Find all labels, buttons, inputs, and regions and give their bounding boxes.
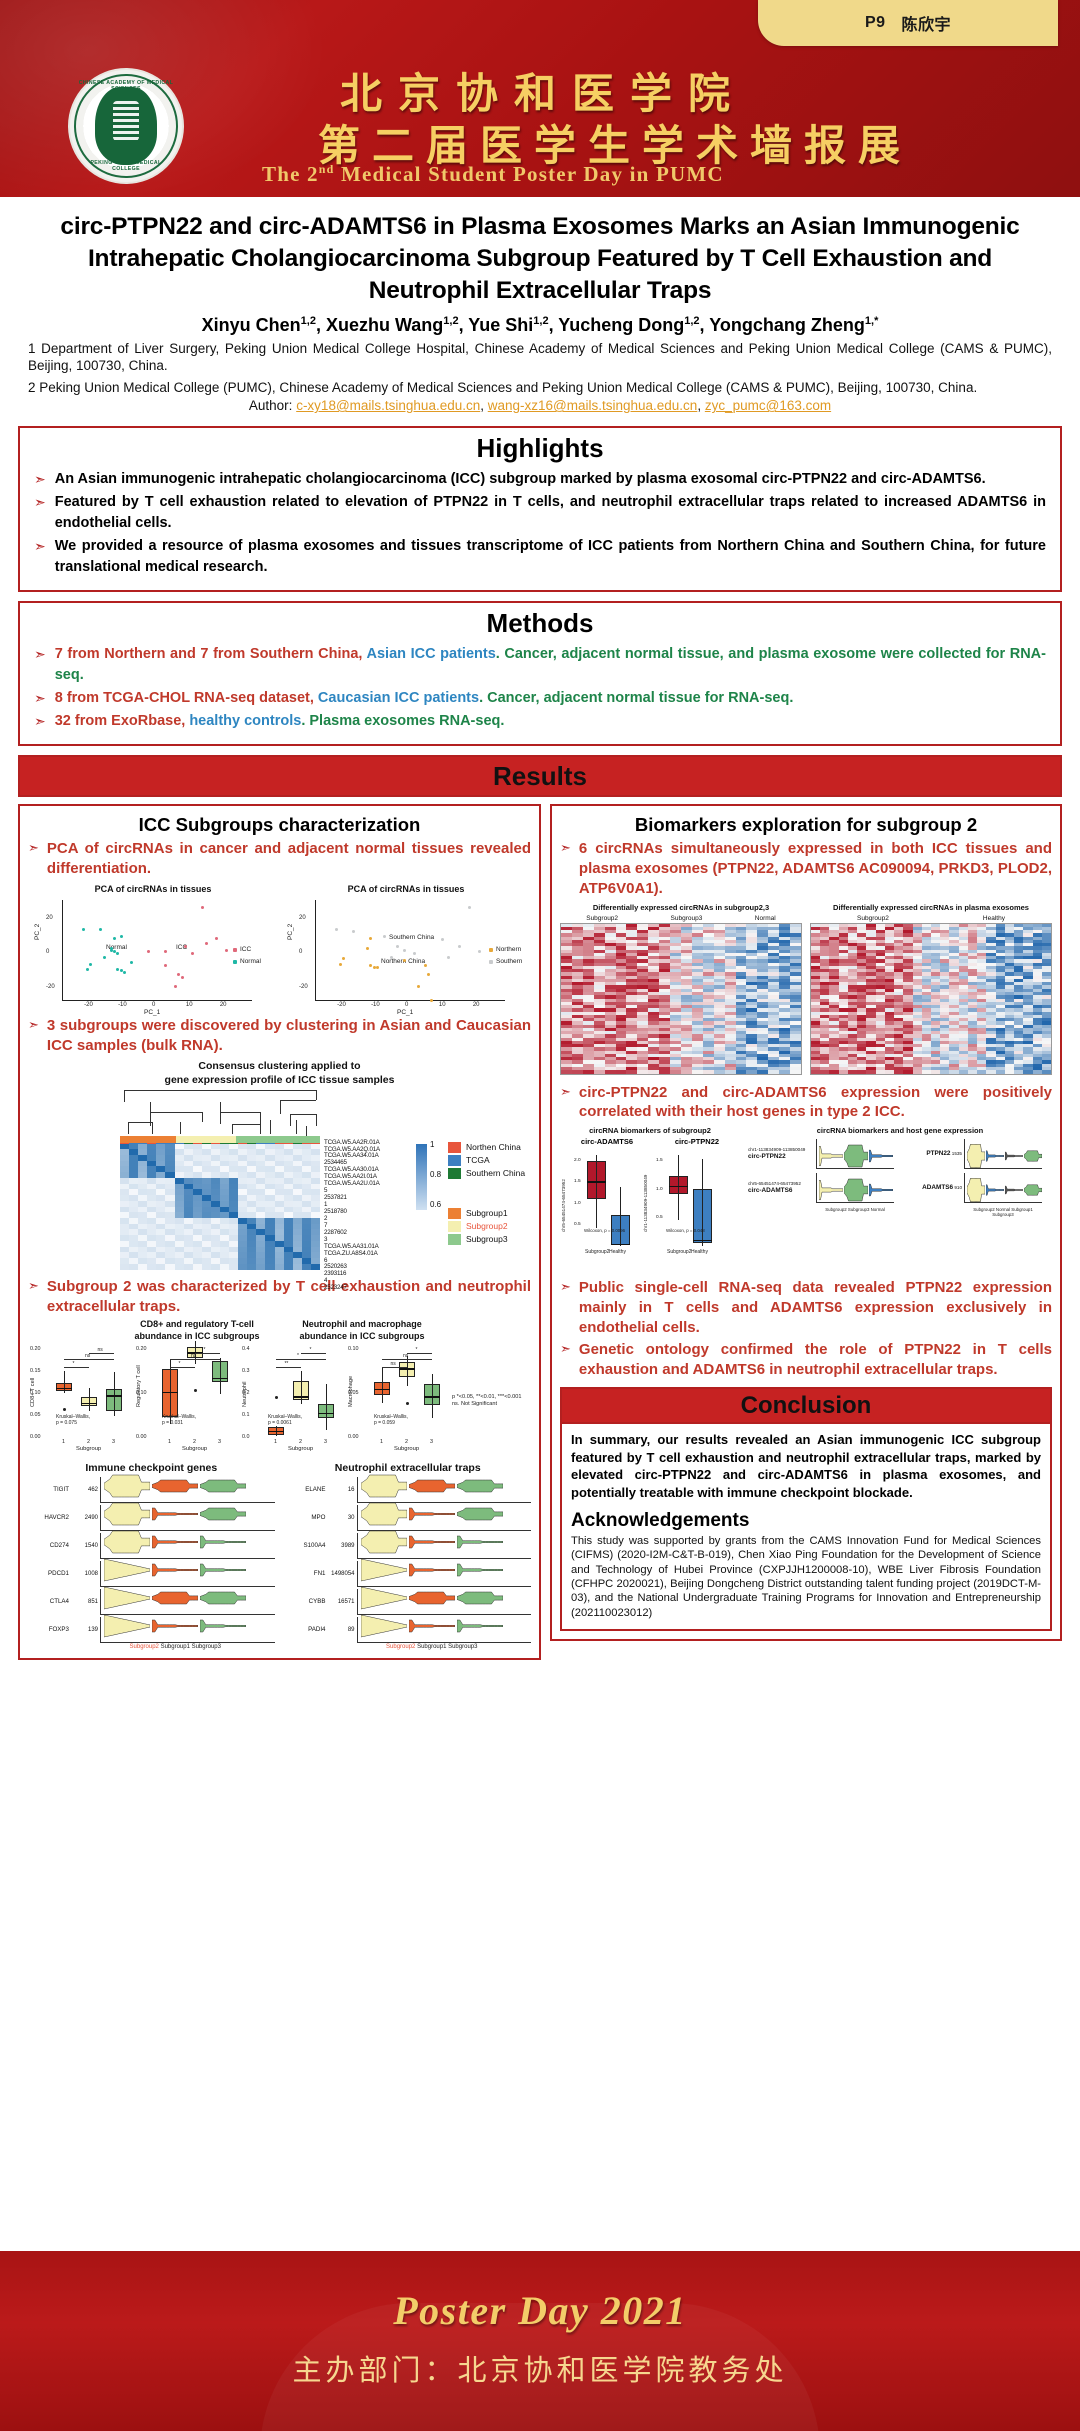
x-tick: -20 xyxy=(337,1002,346,1008)
consensus-cell xyxy=(129,1264,138,1270)
heatmap-cell xyxy=(714,1070,726,1074)
bullet-arrow-icon: ➣ xyxy=(34,536,46,578)
violin-max-value: 1498054 xyxy=(329,1571,357,1577)
significance-bar xyxy=(301,1353,326,1354)
pvalue-label: Kruskal–Wallis, p = 0.0061 xyxy=(268,1415,302,1427)
violin-max-value: 1540 xyxy=(72,1543,100,1549)
methods-title: Methods xyxy=(20,603,1060,642)
x-axis-label: Subgroup xyxy=(288,1446,313,1452)
x-tick: 0 xyxy=(405,1002,408,1008)
violin-shape xyxy=(967,1143,985,1169)
violin-row: CYBB16571 xyxy=(285,1588,532,1616)
sig-legend-line-1: p *<0.05, **<0.01, ***<0.001 xyxy=(452,1394,531,1401)
dendrogram-branch xyxy=(150,1102,151,1112)
dendrogram-branch xyxy=(290,1114,316,1115)
violin-gene-label: PDCD1 xyxy=(28,1570,72,1577)
right-bullet-3: ➣ Public single-cell RNA-seq data reveal… xyxy=(560,1278,1052,1338)
footer-title: Poster Day 2021 xyxy=(0,2287,1080,2334)
x-tick: 20 xyxy=(220,1002,227,1008)
median-line xyxy=(399,1368,415,1369)
violin-max-value: 16 xyxy=(329,1487,357,1493)
dendrogram-branch xyxy=(290,1114,291,1126)
x-tick: 2 xyxy=(299,1439,302,1445)
heatmap-cell xyxy=(779,1070,791,1074)
acknowledgements-title: Acknowledgements xyxy=(571,1510,1041,1532)
left-column-heading: ICC Subgroups characterization xyxy=(28,814,531,836)
violin-xticks-left: Subgroup2 Subgroup1 Subgroup3 xyxy=(76,1644,275,1650)
violin-gene-label: FOXP3 xyxy=(28,1626,72,1633)
y-axis xyxy=(315,900,316,1000)
method-item: ➣ 8 from TCGA-CHOL RNA-seq dataset, Cauc… xyxy=(34,688,1046,709)
violin-shape xyxy=(986,1177,1004,1203)
scatter-point xyxy=(342,957,345,960)
violin-net: Neutrophil extracellular traps ELANE16MP… xyxy=(285,1462,532,1650)
scatter-point xyxy=(383,935,386,938)
highlight-text: Featured by T cell exhaustion related to… xyxy=(55,492,1046,534)
bullet-arrow-icon: ➣ xyxy=(34,688,46,709)
pca-2-annotation-southern: Southern China xyxy=(389,934,434,941)
conclusion-text: In summary, our results revealed an Asia… xyxy=(571,1431,1041,1501)
violin-shape xyxy=(104,1502,150,1526)
violin-shape xyxy=(457,1530,503,1554)
outlier-point xyxy=(63,1408,66,1411)
violin-shape xyxy=(409,1474,455,1498)
scatter-point xyxy=(478,950,481,953)
dendrogram-branch xyxy=(220,1112,260,1113)
method-assay: . Cancer, adjacent normal tissue for RNA… xyxy=(479,690,793,706)
seal-bottom-text: PEKING UNION MEDICAL COLLEGE xyxy=(76,160,176,172)
sig-legend-line-2: ns. Not Significant xyxy=(452,1401,531,1408)
x-tick: Subgroup2 xyxy=(667,1249,691,1255)
host-gene-violin-plot xyxy=(964,1139,1042,1169)
sample-label-list: TCGA.W5.AA2R.01ATCGA.W5.AA2Q.01ATCGA.W5.… xyxy=(324,1140,380,1293)
right-column-heading: Biomarkers exploration for subgroup 2 xyxy=(560,814,1052,836)
conclusion-title: Conclusion xyxy=(560,1387,1052,1424)
pca-1-plot: PC_2 PC_1 Normal ICC ICC Normal -20-1001… xyxy=(28,896,278,1014)
left-bullet-2: ➣ 3 subgroups were discovered by cluster… xyxy=(28,1016,531,1056)
median-line xyxy=(374,1389,390,1390)
heatmap-cell xyxy=(637,1070,649,1074)
violin-shape xyxy=(457,1502,503,1526)
method-item: ➣ 7 from Northern and 7 from Southern Ch… xyxy=(34,644,1046,686)
heatmap-right-caption: Differentially expressed circRNAs in pla… xyxy=(810,903,1052,912)
violin-shape xyxy=(200,1474,246,1498)
heatmap-tissue: Differentially expressed circRNAs in sub… xyxy=(560,903,802,1074)
colorbar-tick-1: 1 xyxy=(430,1140,434,1149)
consensus-cell xyxy=(147,1264,156,1270)
violin-row: FOXP3139 xyxy=(28,1616,275,1644)
circ-caption: circRNA biomarkers of subgroup2 xyxy=(560,1126,740,1135)
y-tick: 20 xyxy=(46,915,53,921)
right-bullet-4: ➣ Genetic ontology confirmed the role of… xyxy=(560,1340,1052,1380)
x-tick: 1 xyxy=(380,1439,383,1445)
dendrogram-branch xyxy=(232,1124,233,1134)
banner-en-prefix: The 2 xyxy=(262,162,319,186)
outlier-point xyxy=(194,1389,197,1392)
violin-row: S100A43989 xyxy=(285,1532,532,1560)
consensus-cell xyxy=(184,1264,193,1270)
dendrogram-branch xyxy=(150,1112,202,1113)
violin-title-right: Neutrophil extracellular traps xyxy=(285,1462,532,1474)
violin-shape xyxy=(457,1474,503,1498)
results-right-column: Biomarkers exploration for subgroup 2 ➣ … xyxy=(550,804,1062,1641)
x-axis-label: Subgroup xyxy=(182,1446,207,1452)
pvalue-label: Kruskal–Wallis, p = 0.075 xyxy=(56,1415,90,1427)
significance-bar xyxy=(382,1367,407,1368)
circ-coordinate: chr1-113834909-113850049 xyxy=(748,1147,805,1152)
whisker xyxy=(114,1372,115,1416)
scatter-point xyxy=(174,985,177,988)
colorbar-tick-3: 0.6 xyxy=(430,1200,441,1209)
x-tick: -20 xyxy=(84,1002,93,1008)
consensus-cell xyxy=(138,1264,147,1270)
method-cohort: 32 from ExoRbase, xyxy=(55,713,190,729)
seal-emblem xyxy=(95,87,157,165)
y-tick: 2.0 xyxy=(574,1158,581,1163)
heatmap-cell xyxy=(616,1070,628,1074)
consensus-caption-2: gene expression profile of ICC tissue sa… xyxy=(28,1074,531,1087)
scatter-point xyxy=(376,966,379,969)
highlight-text: An Asian immunogenic intrahepatic cholan… xyxy=(55,469,986,490)
dendrogram-branch xyxy=(124,1090,125,1102)
method-population: Caucasian ICC patients xyxy=(318,690,479,706)
y-tick: 0.5 xyxy=(574,1222,581,1227)
x-tick: 3 xyxy=(324,1439,327,1445)
dendrogram-branch xyxy=(296,1120,297,1134)
y-tick: 0.15 xyxy=(30,1368,41,1374)
banner-en-rest: Medical Student Poster Day in PUMC xyxy=(335,162,724,186)
x-tick: 1 xyxy=(62,1439,65,1445)
right-bullet-1: ➣ 6 circRNAs simultaneously expressed in… xyxy=(560,839,1052,899)
violin-shape xyxy=(152,1614,198,1638)
violin-shape xyxy=(200,1586,246,1610)
methods-body: ➣ 7 from Northern and 7 from Southern Ch… xyxy=(20,644,1060,744)
significance-label: * xyxy=(309,1347,311,1353)
scatter-point xyxy=(147,950,150,953)
consensus-cell xyxy=(193,1264,202,1270)
y-axis-label: CD8+ T cell xyxy=(30,1378,36,1407)
sample-label: 2393116 xyxy=(324,1271,380,1278)
sample-label: 2537821 xyxy=(324,1195,380,1202)
heatmap-cell xyxy=(736,1070,748,1074)
y-axis-label: Macrophage xyxy=(348,1376,354,1407)
pca-1-xlabel: PC_1 xyxy=(144,1009,160,1016)
y-tick: 0.00 xyxy=(136,1434,147,1440)
violin-row: CD2741540 xyxy=(28,1532,275,1560)
violin-max-value: 89 xyxy=(329,1627,357,1633)
host-gene-xticks: Subgroup2 Subgroup3 Normal Subgroup2 Nor… xyxy=(748,1207,1052,1217)
heatmap-cell xyxy=(1042,1070,1052,1074)
pca-1-legend-icc: ICC xyxy=(233,946,251,953)
consensus-cell xyxy=(311,1264,320,1270)
heatmap-cell xyxy=(594,1070,606,1074)
sample-label: 2518780 xyxy=(324,1209,380,1216)
heatmap-cell xyxy=(703,1070,715,1074)
pumc-seal-logo: CHINESE ACADEMY OF MEDICAL SCIENCES PEKI… xyxy=(68,68,184,184)
results-columns: ICC Subgroups characterization ➣ PCA of … xyxy=(18,804,1062,1660)
significance-label: * xyxy=(178,1361,180,1367)
scatter-point xyxy=(205,942,208,945)
sample-label: 2287602 xyxy=(324,1230,380,1237)
highlight-item: ➣ We provided a resource of plasma exoso… xyxy=(34,536,1046,578)
whisker xyxy=(301,1371,302,1404)
bullet-arrow-icon: ➣ xyxy=(34,644,46,686)
immune-abundance-boxplots: 0.000.050.100.150.20CD8+ T cellSubgroup1… xyxy=(28,1345,531,1457)
y-tick: 0.0 xyxy=(242,1434,250,1440)
bullet-arrow-icon: ➣ xyxy=(28,839,39,879)
violin-shape xyxy=(967,1177,985,1203)
sample-label: 2 xyxy=(324,1216,380,1223)
heatmap-cell xyxy=(626,1070,638,1074)
violin-plot xyxy=(357,1561,532,1587)
dendrogram-branch xyxy=(128,1122,129,1134)
consensus-clustering-figure: TCGA.W5.AA2R.01ATCGA.W5.AA2Q.01ATCGA.W5.… xyxy=(28,1090,531,1276)
poster-number-badge: P9 陈欣宇 xyxy=(758,0,1058,46)
pvalue-label: Kruskal–Wallis, p = 0.059 xyxy=(374,1415,408,1427)
violin-plot xyxy=(357,1617,532,1643)
significance-legend: p *<0.05, **<0.01, ***<0.001 ns. Not Sig… xyxy=(452,1394,531,1409)
bullet-arrow-icon: ➣ xyxy=(560,839,571,899)
pca-figure-pair: PCA of circRNAs in tissues PC_2 PC_1 Nor… xyxy=(28,880,531,1014)
scatter-point xyxy=(116,952,119,955)
circ-boxplot-panel: circRNA biomarkers of subgroup2 circ-ADA… xyxy=(560,1126,740,1267)
y-tick: 20 xyxy=(299,915,306,921)
colorbar-tick-2: 0.8 xyxy=(430,1170,441,1179)
host-gene-row: chr1-113834909-113850049circ-PTPN22PTPN2… xyxy=(748,1139,1052,1169)
conclusion-body: In summary, our results revealed an Asia… xyxy=(560,1424,1052,1631)
pca-1-ylabel: PC_2 xyxy=(34,924,41,940)
violin-row: ELANE16 xyxy=(285,1476,532,1504)
scatter-point xyxy=(458,945,461,948)
whisker xyxy=(620,1187,621,1246)
scatter-point xyxy=(86,968,89,971)
y-tick: 1.0 xyxy=(574,1201,581,1206)
significance-bar xyxy=(276,1359,326,1360)
scatter-point xyxy=(441,938,444,941)
y-tick: -20 xyxy=(299,984,308,990)
right-bullet-1-text: 6 circRNAs simultaneously expressed in b… xyxy=(579,839,1052,899)
poster-footer: Poster Day 2021 主办部门：北京协和医学院教务处 xyxy=(0,2251,1080,2431)
y-axis xyxy=(62,900,63,1000)
significance-bar xyxy=(276,1367,301,1368)
sample-label: 2523247 xyxy=(324,1285,380,1292)
violin-shape xyxy=(104,1558,150,1582)
dendrogram-branch xyxy=(128,1122,152,1123)
violin-row: PDCD11008 xyxy=(28,1560,275,1588)
violin-shape xyxy=(200,1530,246,1554)
legend-row-subgroup3: Subgroup3 xyxy=(448,1234,508,1245)
y-tick: 0.05 xyxy=(30,1412,41,1418)
scatter-point xyxy=(82,928,85,931)
violin-shape xyxy=(200,1502,246,1526)
dendrogram-branch xyxy=(260,1112,261,1124)
right-bullet-2-text: circ-PTPN22 and circ-ADAMTS6 expression … xyxy=(579,1083,1052,1123)
heatmap-cell xyxy=(648,1070,660,1074)
dendrogram-branch xyxy=(316,1114,317,1126)
dendrogram-branch xyxy=(180,1122,181,1134)
violin-gene-label: PADI4 xyxy=(285,1626,329,1633)
violin-shape xyxy=(104,1474,150,1498)
author-list: Xinyu Chen1,2, Xuezhu Wang1,2, Yue Shi1,… xyxy=(28,315,1052,336)
scatter-point xyxy=(335,928,338,931)
pca-1-legend-normal: Normal xyxy=(233,958,261,965)
violin-shape xyxy=(457,1586,503,1610)
median-line xyxy=(268,1431,284,1432)
violin-shape xyxy=(1024,1177,1042,1203)
pca-2-plot: PC_2 PC_1 Southern China Northern China … xyxy=(281,896,531,1014)
violin-shape xyxy=(1005,1143,1023,1169)
violin-gene-label: MPO xyxy=(285,1514,329,1521)
consensus-cell xyxy=(247,1264,256,1270)
scatter-point xyxy=(191,952,194,955)
boxplot-neutrophil: 0.00.10.20.30.4NeutrophilSubgroup123****… xyxy=(240,1345,343,1457)
significance-bar xyxy=(89,1353,114,1354)
circ-coordinate: chr5-65451474-65473952 xyxy=(748,1181,801,1186)
x-axis xyxy=(315,1000,505,1001)
violin-shape xyxy=(104,1586,150,1610)
pvalue-label: Kruskal–Wallis, p = 0.031 xyxy=(162,1415,196,1427)
title-block: circ-PTPN22 and circ-ADAMTS6 in Plasma E… xyxy=(0,197,1080,417)
host-gene-name: PTPN22 xyxy=(926,1150,950,1157)
median-line xyxy=(424,1396,440,1397)
dendrogram-branch xyxy=(232,1124,260,1125)
scatter-point xyxy=(181,976,184,979)
significance-bar xyxy=(195,1353,220,1354)
boxplot-treg: 0.000.100.20Regulatory T cellSubgroup123… xyxy=(134,1345,237,1457)
heatmap-right-grid xyxy=(810,923,1052,1075)
violin-plot xyxy=(100,1589,275,1615)
bullet-arrow-icon: ➣ xyxy=(560,1340,571,1380)
violin-shape xyxy=(104,1530,150,1554)
median-line xyxy=(106,1395,122,1396)
consensus-cell xyxy=(175,1264,184,1270)
scatter-point xyxy=(130,961,133,964)
author-label: Author: xyxy=(249,398,293,413)
whisker xyxy=(678,1155,679,1220)
host-gene-max: 910 xyxy=(954,1185,962,1190)
dendrogram-branch xyxy=(306,1126,307,1136)
subgroup-annotation-segment xyxy=(120,1136,176,1143)
email-link-1[interactable]: c-xy18@mails.tsinghua.edu.cn xyxy=(296,398,480,413)
violin-row: CTLA4851 xyxy=(28,1588,275,1616)
violin-panels: Immune checkpoint genes TIGIT462HAVCR224… xyxy=(28,1462,531,1650)
significance-label: ** xyxy=(284,1361,288,1367)
x-tick: 10 xyxy=(439,1002,446,1008)
consensus-cell xyxy=(238,1264,247,1270)
x-tick: 3 xyxy=(430,1439,433,1445)
consensus-cell xyxy=(275,1264,284,1270)
violin-shape xyxy=(104,1614,150,1638)
significance-bar xyxy=(64,1367,89,1368)
violin-shape xyxy=(457,1614,503,1638)
legend-row-northern: Northen China xyxy=(448,1142,525,1153)
violin-shape xyxy=(152,1502,198,1526)
dendrogram xyxy=(120,1090,320,1136)
y-tick: 0.20 xyxy=(136,1346,147,1352)
heatmap-left-groups: Subgroup2 Subgroup3 Normal xyxy=(560,915,802,922)
host-gene-panel: circRNA biomarkers and host gene express… xyxy=(748,1126,1052,1267)
violin-shape xyxy=(361,1614,407,1638)
y-tick: 0.1 xyxy=(242,1412,250,1418)
violin-max-value: 1008 xyxy=(72,1571,100,1577)
host-gene-label: PTPN22 1535 xyxy=(896,1150,962,1158)
acknowledgements-text: This study was supported by grants from … xyxy=(571,1534,1041,1620)
affiliation-2: 2 Peking Union Medical College (PUMC), C… xyxy=(28,379,1052,397)
scatter-point xyxy=(447,956,450,959)
scatter-point xyxy=(89,963,92,966)
heatmap-exosome: Differentially expressed circRNAs in pla… xyxy=(810,903,1052,1074)
significance-label: * xyxy=(297,1353,299,1359)
circ-name: circ-ADAMTS6 xyxy=(748,1187,814,1195)
y-axis-label: chr5-65451474-65473952 xyxy=(561,1179,566,1232)
violin-gene-label: CD274 xyxy=(28,1542,72,1549)
bullet-arrow-icon: ➣ xyxy=(34,711,46,732)
y-tick: 0.4 xyxy=(242,1346,250,1352)
host-gene-name: ADAMTS6 xyxy=(922,1184,953,1191)
violin-shape xyxy=(409,1614,455,1638)
x-tick: 0 xyxy=(152,1002,155,1008)
x-tick: 1 xyxy=(168,1439,171,1445)
scatter-point xyxy=(413,952,416,955)
highlight-item: ➣ Featured by T cell exhaustion related … xyxy=(34,492,1046,534)
violin-shape xyxy=(819,1177,843,1203)
pca-2-title: PCA of circRNAs in tissues xyxy=(281,884,531,895)
x-tick: 3 xyxy=(112,1439,115,1445)
violin-shape xyxy=(409,1502,455,1526)
y-tick: 0 xyxy=(46,949,49,955)
significance-bar xyxy=(170,1359,220,1360)
scatter-point xyxy=(225,949,228,952)
subgroup-annotation-segment xyxy=(236,1136,320,1143)
results-left-column: ICC Subgroups characterization ➣ PCA of … xyxy=(18,804,541,1660)
violin-max-value: 851 xyxy=(72,1599,100,1605)
consensus-cell xyxy=(120,1264,129,1270)
dendrogram-branch xyxy=(150,1112,151,1126)
scatter-point xyxy=(468,906,471,909)
violin-max-value: 2490 xyxy=(72,1515,100,1521)
email-link-2[interactable]: wang-xz16@mails.tsinghua.edu.cn xyxy=(488,398,698,413)
heatmap-left-grid xyxy=(560,923,802,1075)
left-bullet-3-text: Subgroup 2 was characterized by T cell e… xyxy=(47,1277,531,1317)
pca-2-legend-southern: Southern xyxy=(489,958,522,965)
footer-organizer: 主办部门：北京协和医学院教务处 xyxy=(0,2347,1080,2389)
violin-gene-label: CYBB xyxy=(285,1598,329,1605)
y-tick: 1.5 xyxy=(656,1158,663,1163)
consensus-cell xyxy=(284,1264,293,1270)
subgroup-legend: Subgroup1 Subgroup2 Subgroup3 xyxy=(448,1208,508,1247)
circ-label: chr1-113834909-113850049circ-PTPN22 xyxy=(748,1147,814,1160)
heatmap-cell xyxy=(659,1070,671,1074)
bullet-arrow-icon: ➣ xyxy=(560,1083,571,1123)
x-tick: Healthy xyxy=(609,1249,626,1255)
y-axis-label: Regulatory T cell xyxy=(136,1365,142,1407)
y-tick: 0.5 xyxy=(656,1215,663,1220)
annotation-bar-subgroup xyxy=(120,1136,320,1143)
x-tick: 2 xyxy=(87,1439,90,1445)
heatmap-cell xyxy=(670,1070,682,1074)
significance-bar xyxy=(170,1367,195,1368)
legend-row-southern: Southern China xyxy=(448,1168,525,1179)
circ-ptpn22-boxplot: 0.51.01.5chr1-113834909-113850049Subgrou… xyxy=(642,1148,718,1268)
violin-max-value: 3989 xyxy=(329,1543,357,1549)
left-bullet-2-text: 3 subgroups were discovered by clusterin… xyxy=(47,1016,531,1056)
email-link-3[interactable]: zyc_pumc@163.com xyxy=(705,398,831,413)
host-gene-row: chr5-65451474-65473952circ-ADAMTS6ADAMTS… xyxy=(748,1173,1052,1203)
x-tick: 2 xyxy=(193,1439,196,1445)
median-line xyxy=(81,1403,97,1404)
boxcap-right-2: abundance in ICC subgroups xyxy=(300,1331,425,1342)
heatmap-cell xyxy=(681,1070,693,1074)
